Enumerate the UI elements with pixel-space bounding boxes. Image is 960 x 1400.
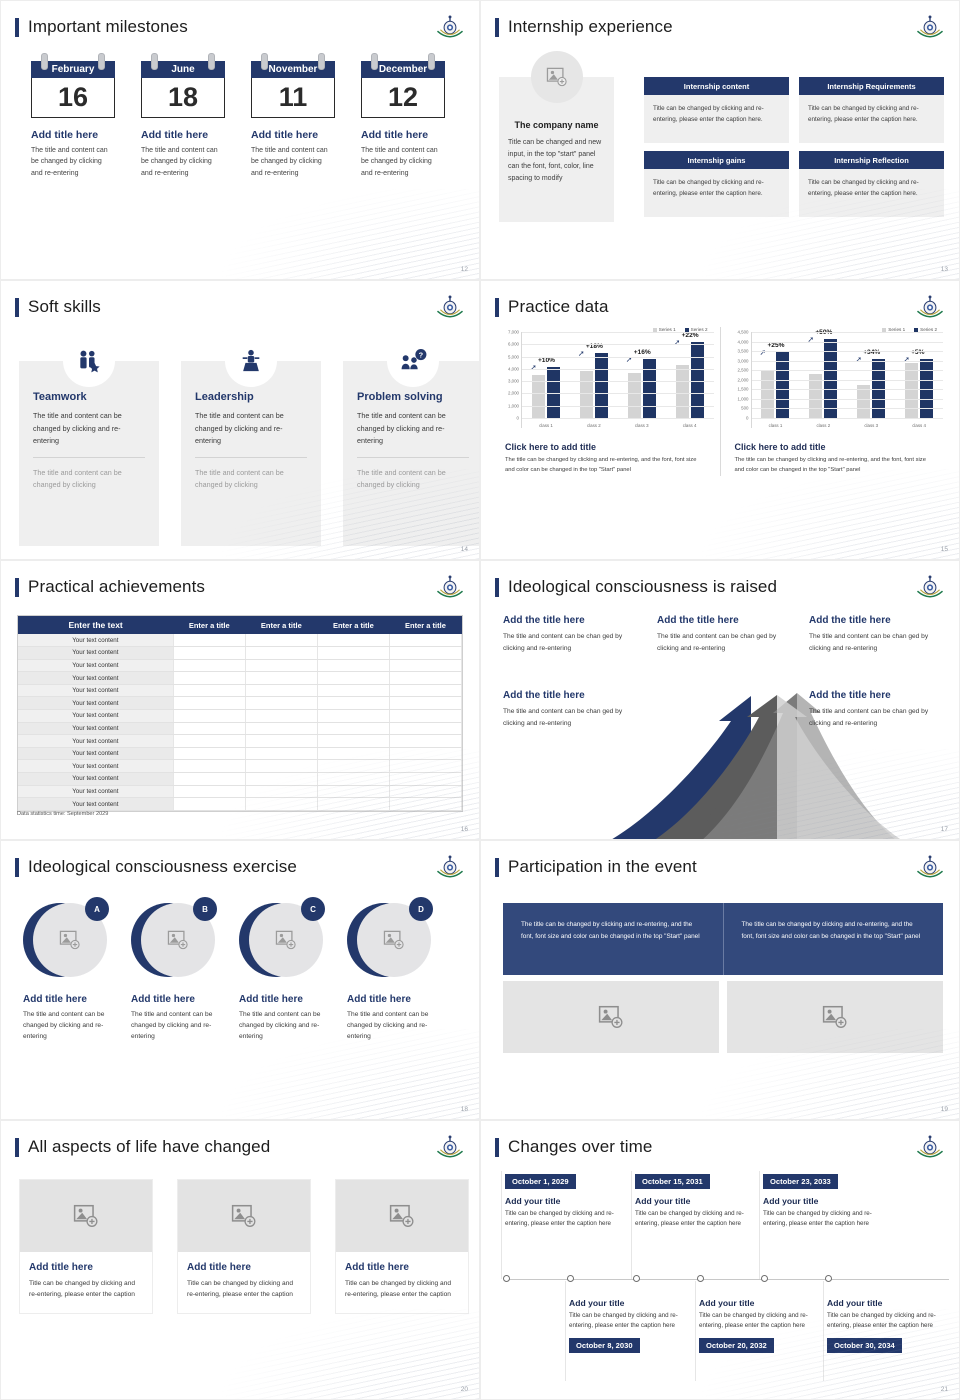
university-crest-logo-icon: [915, 855, 945, 883]
table-cell[interactable]: [173, 659, 245, 672]
image-placeholder-icon: [73, 1204, 99, 1228]
page-number: 15: [941, 546, 948, 553]
chart-caption: Click here to add title The title can be…: [727, 442, 944, 476]
image-placeholder[interactable]: [178, 1180, 310, 1252]
title-text: All aspects of life have changed: [28, 1137, 270, 1157]
table-cell[interactable]: [317, 672, 389, 685]
soft-skill-card[interactable]: Leadership The title and content can be …: [181, 361, 321, 546]
circle-badge: C: [301, 897, 325, 921]
table-cell[interactable]: [245, 659, 317, 672]
table-cell[interactable]: Your text content: [18, 659, 173, 672]
timeline-event-top[interactable]: October 15, 2031Add your titleTitle can …: [635, 1171, 747, 1229]
image-placeholder[interactable]: [727, 981, 943, 1053]
page-title: Practice data: [495, 297, 609, 317]
exercise-circle-item[interactable]: DAdd title hereThe title and content can…: [347, 899, 431, 1042]
calendar-ring-icon: [41, 53, 48, 70]
life-card[interactable]: Add title hereTitle can be changed by cl…: [177, 1179, 311, 1314]
timeline-connector: [695, 1281, 696, 1381]
x-tick-label: class 1: [539, 423, 553, 428]
slide-soft-skills[interactable]: Soft skills Teamwork The title and conte…: [0, 280, 480, 560]
title-text: Practice data: [508, 297, 609, 317]
table-cell[interactable]: [389, 659, 461, 672]
table-cell[interactable]: [389, 785, 461, 798]
internship-cell[interactable]: Internship Reflection Title can be chang…: [799, 151, 944, 217]
soft-skill-card[interactable]: Teamwork The title and content can be ch…: [19, 361, 159, 546]
x-tick-label: class 4: [683, 423, 697, 428]
bar-group[interactable]: class 4+5%➚: [905, 332, 933, 418]
table-cell[interactable]: [317, 773, 389, 786]
table-cell[interactable]: [173, 773, 245, 786]
circle-desc: The title and content can be changed by …: [23, 1009, 107, 1042]
title-accent-bar: [495, 1138, 499, 1157]
circle-badge: A: [85, 897, 109, 921]
calendar-card: December 12: [361, 61, 445, 118]
table-cell[interactable]: [389, 684, 461, 697]
table-cell[interactable]: [245, 697, 317, 710]
table-row[interactable]: Your text content: [18, 659, 462, 672]
table-cell[interactable]: [317, 647, 389, 660]
table-cell[interactable]: Your text content: [18, 697, 173, 710]
table-row[interactable]: Your text content: [18, 672, 462, 685]
gridline: [522, 369, 714, 370]
calendar-ring-icon: [98, 53, 105, 70]
table-cell[interactable]: [389, 647, 461, 660]
table-cell[interactable]: [245, 722, 317, 735]
life-card[interactable]: Add title hereTitle can be changed by cl…: [335, 1179, 469, 1314]
gridline: [752, 408, 944, 409]
divider: [357, 457, 469, 458]
cell-body: Title can be changed by clicking and re-…: [799, 95, 944, 143]
cell-header: Internship Reflection: [799, 151, 944, 169]
table-cell[interactable]: [389, 710, 461, 723]
calendar-ring-icon: [208, 53, 215, 70]
table-cell[interactable]: [317, 798, 389, 811]
milestone-item[interactable]: February 16 Add title here The title and…: [31, 61, 115, 179]
table-cell[interactable]: [245, 672, 317, 685]
growth-annotation: +16%: [634, 349, 651, 356]
gridline: [522, 393, 714, 394]
card-desc: Title can be changed by clicking and re-…: [187, 1278, 301, 1301]
column-header[interactable]: Enter a title: [245, 616, 317, 634]
table-cell[interactable]: [317, 760, 389, 773]
milestone-item[interactable]: June 18 Add title here The title and con…: [141, 61, 225, 179]
timeline-connector: [759, 1171, 760, 1279]
timeline-dot[interactable]: [825, 1275, 832, 1282]
table-cell[interactable]: [173, 722, 245, 735]
gridline: [522, 406, 714, 407]
table-row[interactable]: Your text content: [18, 647, 462, 660]
table-cell[interactable]: [317, 710, 389, 723]
slide-changes-over-time[interactable]: Changes over time October 1, 2029Add you…: [480, 1120, 960, 1400]
table-cell[interactable]: Your text content: [18, 798, 173, 811]
y-tick-label: 4,500: [738, 330, 749, 335]
raised-item[interactable]: Add the title here The title and content…: [809, 615, 949, 655]
table-cell[interactable]: [173, 684, 245, 697]
circle-visual: B: [131, 899, 215, 984]
table-row[interactable]: Your text content: [18, 697, 462, 710]
table-cell[interactable]: [245, 798, 317, 811]
y-tick-label: 4,000: [738, 339, 749, 344]
timeline-date-chip: October 1, 2029: [505, 1174, 576, 1189]
raised-item[interactable]: Add the title here The title and content…: [503, 615, 643, 655]
table-cell[interactable]: [173, 697, 245, 710]
table-cell[interactable]: [317, 747, 389, 760]
circle-badge: D: [409, 897, 433, 921]
timeline-date-chip: October 15, 2031: [635, 1174, 710, 1189]
image-placeholder-icon[interactable]: [531, 51, 583, 103]
circle-visual: D: [347, 899, 431, 984]
table-body: Your text contentYour text contentYour t…: [18, 634, 462, 810]
raised-item[interactable]: Add the title here The title and content…: [657, 615, 797, 655]
image-placeholder-icon: [598, 1005, 624, 1029]
y-tick-label: 500: [741, 406, 748, 411]
bar-group[interactable]: class 1+25%➚: [761, 332, 789, 418]
title-accent-bar: [15, 858, 19, 877]
soft-skill-card[interactable]: ? Problem solving The title and content …: [343, 361, 480, 546]
table-cell[interactable]: [245, 785, 317, 798]
table-cell[interactable]: [245, 647, 317, 660]
image-placeholder[interactable]: [503, 981, 719, 1053]
slide-practice-data[interactable]: Practice data Series 1 Series 2 01,0002,…: [480, 280, 960, 560]
caption-title: Click here to add title: [505, 442, 706, 452]
timeline-title: Add your title: [569, 1298, 681, 1308]
timeline-desc: Title can be changed by clicking and re-…: [569, 1311, 681, 1331]
y-tick-label: 7,000: [508, 330, 519, 335]
company-name: The company name: [499, 120, 614, 130]
image-placeholder[interactable]: [336, 1180, 468, 1252]
calendar-ring-icon: [318, 53, 325, 70]
timeline-dot[interactable]: [633, 1275, 640, 1282]
item-desc: The title and content can be chan ged by…: [809, 631, 949, 655]
university-crest-logo-icon: [435, 295, 465, 323]
timeline-title: Add your title: [505, 1196, 617, 1206]
y-tick-label: 3,000: [738, 358, 749, 363]
table-cell[interactable]: [317, 785, 389, 798]
milestone-row: February 16 Add title here The title and…: [31, 61, 445, 179]
title-accent-bar: [15, 1138, 19, 1157]
growth-annotation: +22%: [682, 332, 699, 339]
x-tick-label: class 1: [769, 423, 783, 428]
trend-arrow-icon: ➚: [903, 355, 910, 364]
table-cell[interactable]: [173, 760, 245, 773]
page-number: 21: [941, 1386, 948, 1393]
table-cell[interactable]: [389, 672, 461, 685]
table-cell[interactable]: [245, 684, 317, 697]
table-row[interactable]: Your text content: [18, 760, 462, 773]
event-image-row: [503, 981, 943, 1053]
table-cell[interactable]: [317, 735, 389, 748]
exercise-circle-item[interactable]: BAdd title hereThe title and content can…: [131, 899, 215, 1042]
x-tick-label: class 2: [816, 423, 830, 428]
university-crest-logo-icon: [435, 1135, 465, 1163]
calendar-card: February 16: [31, 61, 115, 118]
table-cell[interactable]: [245, 773, 317, 786]
gridline: [752, 332, 944, 333]
event-text-band: The title can be changed by clicking and…: [503, 903, 943, 975]
card-desc: Title can be changed by clicking and re-…: [29, 1278, 143, 1301]
title-text: Participation in the event: [508, 857, 697, 877]
y-tick-label: 0: [746, 416, 748, 421]
table-cell[interactable]: Your text content: [18, 684, 173, 697]
column-header[interactable]: Enter a title: [173, 616, 245, 634]
slide-internship-experience[interactable]: Internship experience The company name T…: [480, 0, 960, 280]
table-row[interactable]: Your text content: [18, 634, 462, 647]
bar-series-1: [905, 363, 918, 418]
card-secondary-text: The title and content can be changed by …: [33, 467, 145, 492]
image-placeholder-icon: [275, 930, 297, 950]
card-title: Add title here: [345, 1262, 459, 1273]
title-accent-bar: [15, 18, 19, 37]
x-tick-label: class 4: [912, 423, 926, 428]
card-secondary-text: The title and content can be changed by …: [357, 467, 469, 492]
slide-ideological-consciousness-exercise[interactable]: Ideological consciousness exercise AAdd …: [0, 840, 480, 1120]
bar-series-1: [628, 373, 641, 418]
milestone-title: Add title here: [31, 129, 115, 141]
life-card[interactable]: Add title hereTitle can be changed by cl…: [19, 1179, 153, 1314]
page-number: 17: [941, 826, 948, 833]
internship-cell[interactable]: Internship content Title can be changed …: [644, 77, 789, 143]
timeline-event-bottom[interactable]: Add your titleTitle can be changed by cl…: [569, 1291, 681, 1353]
table-cell[interactable]: Your text content: [18, 735, 173, 748]
title-accent-bar: [495, 578, 499, 597]
image-placeholder[interactable]: [20, 1180, 152, 1252]
table-row[interactable]: Your text content: [18, 735, 462, 748]
image-placeholder-icon: [822, 1005, 848, 1029]
page-title: Changes over time: [495, 1137, 652, 1157]
bar-series-2: [595, 353, 608, 418]
table-row[interactable]: Your text content: [18, 798, 462, 811]
image-placeholder-icon: [167, 930, 189, 950]
column-header[interactable]: Enter a title: [317, 616, 389, 634]
table-cell[interactable]: [317, 684, 389, 697]
soft-skill-row: Teamwork The title and content can be ch…: [19, 361, 480, 546]
x-tick-label: class 3: [864, 423, 878, 428]
timeline-dot[interactable]: [761, 1275, 768, 1282]
gridline: [752, 370, 944, 371]
table-cell[interactable]: [173, 798, 245, 811]
column-header[interactable]: Enter the text: [18, 616, 173, 634]
circle-title: Add title here: [131, 994, 215, 1005]
calendar-card: November 11: [251, 61, 335, 118]
slide-deck: Important milestones February 16 Add tit…: [0, 0, 960, 1400]
table-row[interactable]: Your text content: [18, 747, 462, 760]
university-crest-logo-icon: [435, 855, 465, 883]
table-cell[interactable]: Your text content: [18, 672, 173, 685]
table-cell[interactable]: [173, 634, 245, 647]
divider: [33, 457, 145, 458]
card-secondary-text: The title and content can be changed by …: [195, 467, 307, 492]
chart-plot: 01,0002,0003,0004,0005,0006,0007,000 cla…: [497, 332, 714, 428]
table-row[interactable]: Your text content: [18, 684, 462, 697]
chart-left[interactable]: Series 1 Series 2 01,0002,0003,0004,0005…: [491, 327, 720, 476]
table-row[interactable]: Your text content: [18, 722, 462, 735]
title-accent-bar: [15, 298, 19, 317]
slide-ideological-consciousness-is-raised[interactable]: Ideological consciousness is raised Add …: [480, 560, 960, 840]
chart-caption: Click here to add title The title can be…: [497, 442, 714, 476]
table-cell[interactable]: Your text content: [18, 634, 173, 647]
column-header[interactable]: Enter a title: [389, 616, 461, 634]
calendar-ring-icon: [151, 53, 158, 70]
table-row[interactable]: Your text content: [18, 785, 462, 798]
image-placeholder-icon: [59, 930, 81, 950]
circle-row: AAdd title hereThe title and content can…: [23, 899, 431, 1042]
table-cell[interactable]: [317, 634, 389, 647]
table-cell[interactable]: [173, 747, 245, 760]
timeline-event-bottom[interactable]: Add your titleTitle can be changed by cl…: [699, 1291, 811, 1353]
card-title: Teamwork: [33, 391, 145, 403]
timeline-date-chip: October 8, 2030: [569, 1338, 640, 1353]
table-cell[interactable]: [245, 735, 317, 748]
timeline-title: Add your title: [763, 1196, 875, 1206]
y-tick-label: 5,000: [508, 354, 519, 359]
milestone-desc: The title and content can be changed by …: [361, 145, 445, 179]
charts-container: Series 1 Series 2 01,0002,0003,0004,0005…: [491, 327, 949, 476]
teamwork-icon: [63, 335, 115, 387]
table-cell[interactable]: [317, 697, 389, 710]
y-tick-label: 1,000: [738, 396, 749, 401]
bar-group[interactable]: class 2+50%➚: [809, 332, 837, 418]
table-cell[interactable]: [389, 798, 461, 811]
cell-header: Internship gains: [644, 151, 789, 169]
page-title: Participation in the event: [495, 857, 697, 877]
achievements-table[interactable]: Enter the textEnter a titleEnter a title…: [17, 615, 463, 812]
table-cell[interactable]: [245, 747, 317, 760]
timeline-dot[interactable]: [567, 1275, 574, 1282]
table-cell[interactable]: Your text content: [18, 773, 173, 786]
slide-practical-achievements[interactable]: Practical achievements Enter the textEnt…: [0, 560, 480, 840]
table-cell[interactable]: [389, 760, 461, 773]
table-cell[interactable]: [245, 760, 317, 773]
y-axis: 01,0002,0003,0004,0005,0006,0007,000: [497, 332, 521, 428]
y-tick-label: 1,000: [508, 403, 519, 408]
internship-cell[interactable]: Internship gains Title can be changed by…: [644, 151, 789, 217]
table-cell[interactable]: [173, 647, 245, 660]
table-row[interactable]: Your text content: [18, 710, 462, 723]
milestone-title: Add title here: [251, 129, 335, 141]
internship-grid: Internship content Title can be changed …: [644, 77, 944, 217]
raised-item[interactable]: Add the title here The title and content…: [503, 690, 643, 730]
university-crest-logo-icon: [915, 1135, 945, 1163]
title-accent-bar: [15, 578, 19, 597]
card-title: Problem solving: [357, 391, 469, 403]
timeline-connector: [565, 1281, 566, 1381]
table-cell[interactable]: [173, 672, 245, 685]
caption-title: Click here to add title: [735, 442, 936, 452]
page-number: 19: [941, 1106, 948, 1113]
slide-important-milestones[interactable]: Important milestones February 16 Add tit…: [0, 0, 480, 280]
page-number: 14: [461, 546, 468, 553]
title-text: Soft skills: [28, 297, 101, 317]
university-crest-logo-icon: [435, 575, 465, 603]
card-title: Leadership: [195, 391, 307, 403]
table-cell[interactable]: Your text content: [18, 722, 173, 735]
circle-title: Add title here: [23, 994, 107, 1005]
y-tick-label: 0: [517, 416, 519, 421]
table-row[interactable]: Your text content: [18, 773, 462, 786]
table-cell[interactable]: [173, 710, 245, 723]
timeline-dot[interactable]: [503, 1275, 510, 1282]
item-desc: The title and content can be chan ged by…: [657, 631, 797, 655]
table-cell[interactable]: Your text content: [18, 710, 173, 723]
table-cell[interactable]: [317, 659, 389, 672]
table-cell[interactable]: [389, 634, 461, 647]
table-cell[interactable]: Your text content: [18, 647, 173, 660]
calendar-day: 16: [31, 78, 115, 118]
university-crest-logo-icon: [915, 575, 945, 603]
item-desc: The title and content can be chan ged by…: [503, 706, 643, 730]
caption-desc: The title can be changed by clicking and…: [735, 456, 936, 476]
timeline-desc: Title can be changed by clicking and re-…: [635, 1209, 747, 1229]
image-placeholder-icon: [389, 1204, 415, 1228]
milestone-item[interactable]: December 12 Add title here The title and…: [361, 61, 445, 179]
bar-series-1: [676, 365, 689, 418]
timeline-date-chip: October 23, 2033: [763, 1174, 838, 1189]
timeline-dot[interactable]: [697, 1275, 704, 1282]
page-title: Practical achievements: [15, 577, 205, 597]
table-cell[interactable]: Your text content: [18, 760, 173, 773]
page-title: Ideological consciousness exercise: [15, 857, 297, 877]
cell-body: Title can be changed by clicking and re-…: [644, 169, 789, 217]
title-text: Important milestones: [28, 17, 188, 37]
page-number: 12: [461, 266, 468, 273]
raised-item[interactable]: Add the title here The title and content…: [809, 690, 949, 730]
circle-desc: The title and content can be changed by …: [131, 1009, 215, 1042]
chart-right[interactable]: Series 1 Series 2 05001,0001,5002,0002,5…: [720, 327, 950, 476]
company-card[interactable]: The company name Title can be changed an…: [499, 77, 614, 222]
table-cell[interactable]: [173, 785, 245, 798]
timeline-event-bottom[interactable]: Add your titleTitle can be changed by cl…: [827, 1291, 939, 1353]
milestone-desc: The title and content can be changed by …: [31, 145, 115, 179]
exercise-circle-item[interactable]: AAdd title hereThe title and content can…: [23, 899, 107, 1042]
timeline-event-top[interactable]: October 1, 2029Add your titleTitle can b…: [505, 1171, 617, 1229]
timeline-connector: [823, 1281, 824, 1381]
table-cell[interactable]: [389, 697, 461, 710]
circle-visual: C: [239, 899, 323, 984]
table-cell[interactable]: [245, 634, 317, 647]
table-cell[interactable]: [389, 735, 461, 748]
university-crest-logo-icon: [915, 15, 945, 43]
table-cell[interactable]: [389, 773, 461, 786]
table-cell[interactable]: [389, 747, 461, 760]
internship-cell[interactable]: Internship Requirements Title can be cha…: [799, 77, 944, 143]
item-title: Add the title here: [809, 690, 949, 701]
trend-arrow-icon: ➚: [807, 335, 814, 344]
table-cell[interactable]: [389, 722, 461, 735]
gridline: [752, 351, 944, 352]
growth-annotation: +25%: [767, 342, 784, 349]
table-cell[interactable]: Your text content: [18, 747, 173, 760]
gridline: [752, 361, 944, 362]
timeline-event-top[interactable]: October 23, 2033Add your titleTitle can …: [763, 1171, 875, 1229]
gridline: [522, 344, 714, 345]
exercise-circle-item[interactable]: CAdd title hereThe title and content can…: [239, 899, 323, 1042]
table-cell[interactable]: Your text content: [18, 785, 173, 798]
circle-title: Add title here: [347, 994, 431, 1005]
table-cell[interactable]: [317, 722, 389, 735]
slide-all-aspects-of-life-have-changed[interactable]: All aspects of life have changed Add tit…: [0, 1120, 480, 1400]
slide-participation-in-the-event[interactable]: Participation in the event The title can…: [480, 840, 960, 1120]
bar-series-1: [809, 374, 822, 418]
table-cell[interactable]: [173, 735, 245, 748]
calendar-ring-icon: [428, 53, 435, 70]
milestone-item[interactable]: November 11 Add title here The title and…: [251, 61, 335, 179]
y-tick-label: 1,500: [738, 387, 749, 392]
gridline: [752, 389, 944, 390]
image-placeholder-icon: [383, 930, 405, 950]
table-cell[interactable]: [245, 710, 317, 723]
bar-group[interactable]: class 3+34%➚: [857, 332, 885, 418]
title-text: Changes over time: [508, 1137, 652, 1157]
